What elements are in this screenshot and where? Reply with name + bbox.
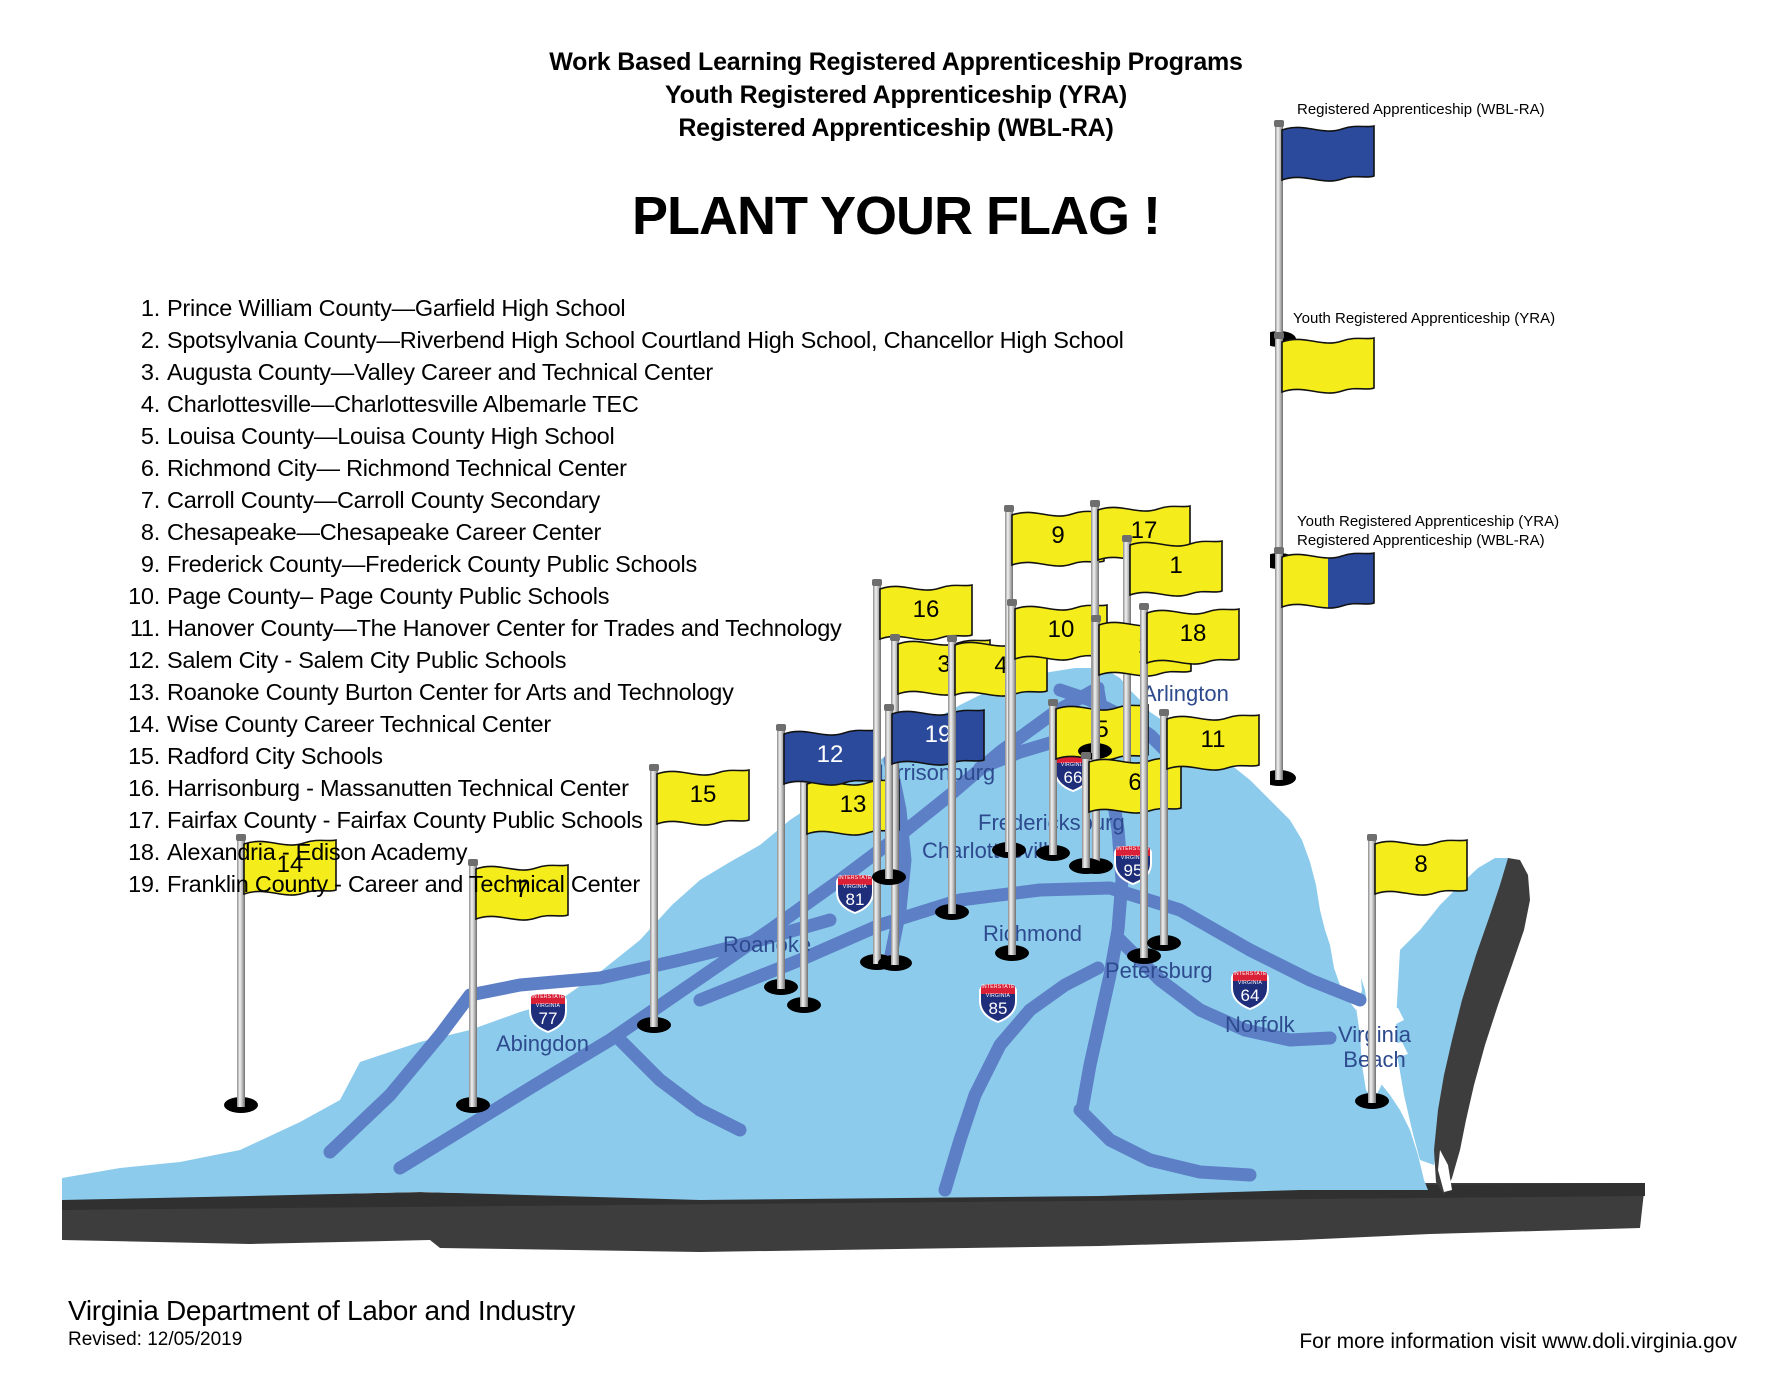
legend-both-label: Youth Registered Apprenticeship (YRA)Reg…	[1297, 512, 1559, 550]
legend-label-line1: Youth Registered Apprenticeship (YRA)	[1293, 309, 1555, 328]
legend-label-line1: Youth Registered Apprenticeship (YRA)	[1297, 512, 1559, 531]
footer-more-info: For more information visit www.doli.virg…	[1299, 1330, 1737, 1354]
poster-root: ArlingtonFairfaxHarrisonburgFredericksbu…	[0, 0, 1792, 1385]
legend-yra-label: Youth Registered Apprenticeship (YRA)	[1293, 309, 1555, 328]
legend-both	[1270, 545, 1400, 792]
map-legend: Registered Apprenticeship (WBL-RA)Youth …	[0, 0, 1792, 1385]
footer-left: Virginia Department of Labor and Industr…	[68, 1295, 575, 1351]
footer-revised-date: Revised: 12/05/2019	[68, 1329, 575, 1351]
legend-wbl-ra-label: Registered Apprenticeship (WBL-RA)	[1297, 100, 1545, 119]
legend-label-line2: Registered Apprenticeship (WBL-RA)	[1297, 531, 1559, 550]
footer-organization: Virginia Department of Labor and Industr…	[68, 1295, 575, 1327]
legend-label-line1: Registered Apprenticeship (WBL-RA)	[1297, 100, 1545, 119]
